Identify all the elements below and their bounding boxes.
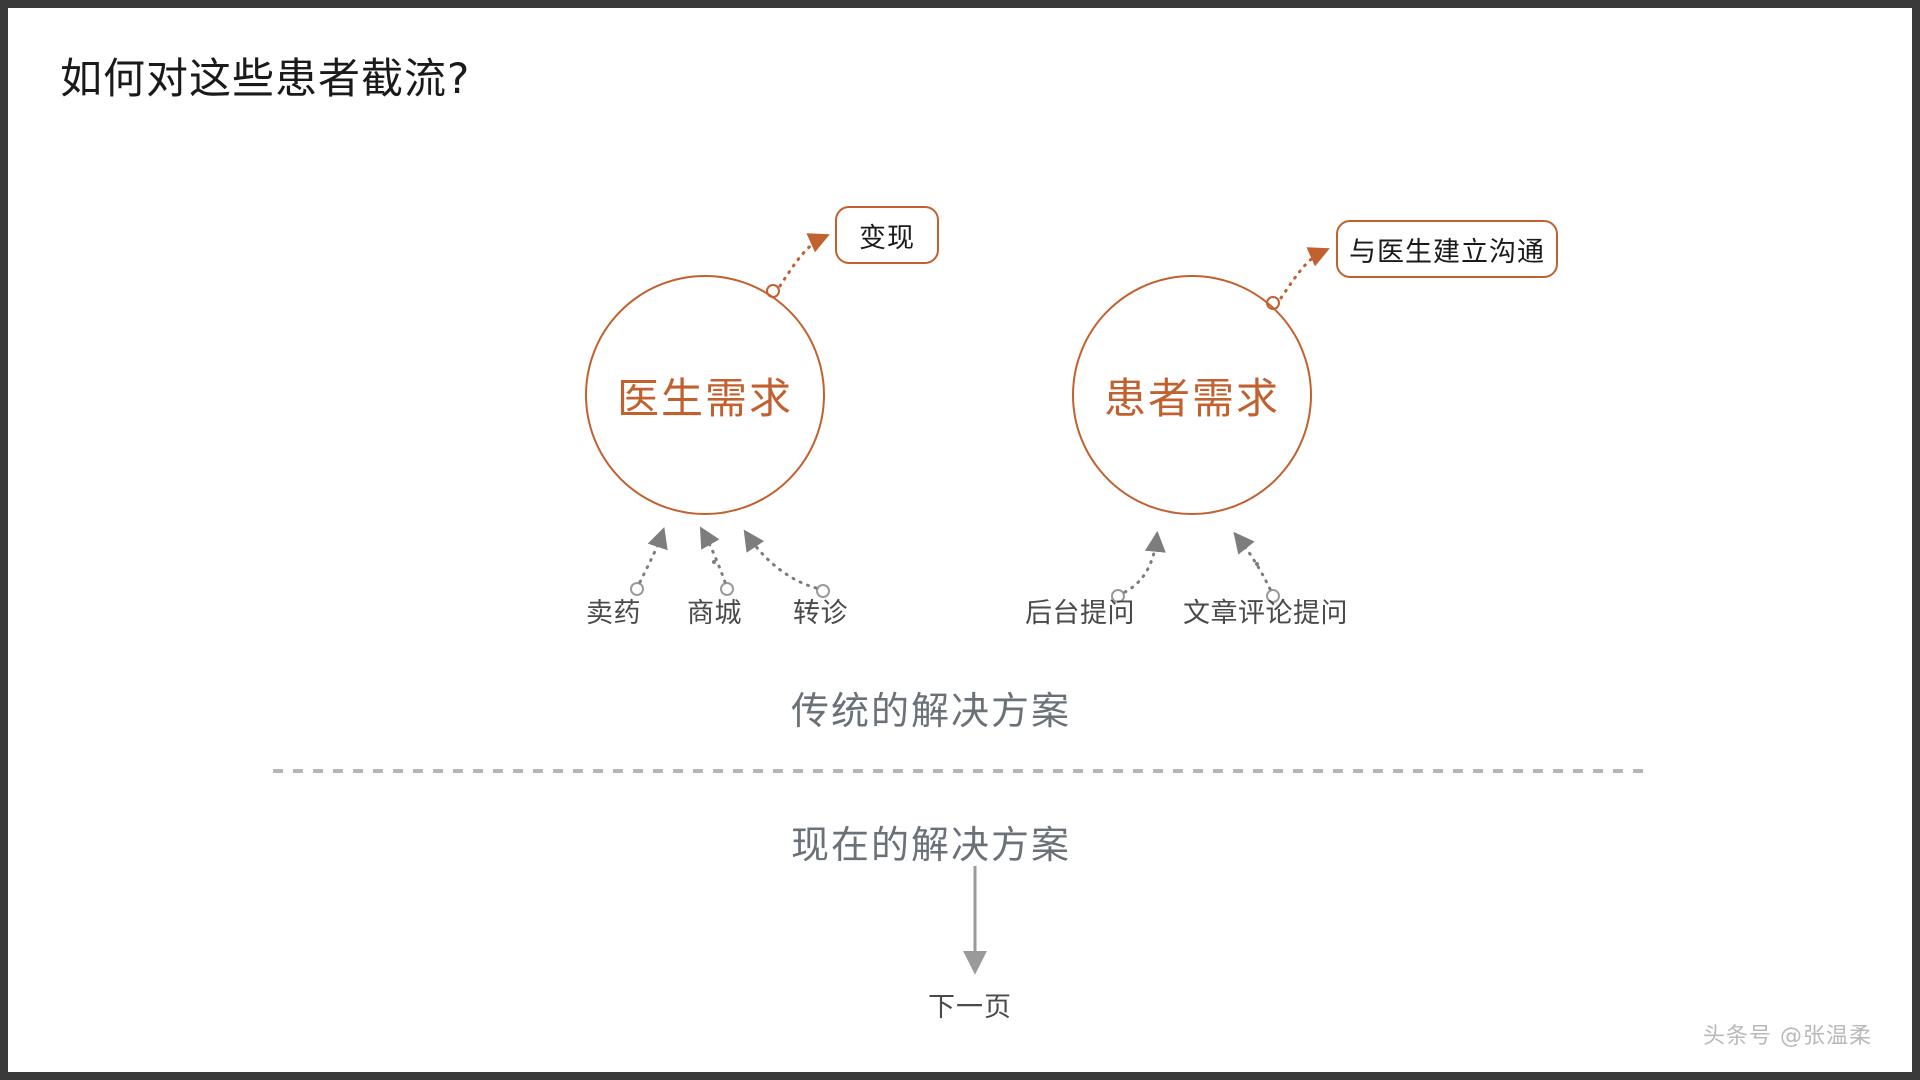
box-communicate[interactable]: 与医生建立沟通 — [1336, 220, 1558, 278]
source-label-sell: 卖药 — [586, 591, 641, 630]
connector-mall-to-doctor — [702, 530, 733, 595]
connector-sell-to-doctor — [631, 531, 663, 595]
circle-doctor-label: 医生需求 — [617, 365, 793, 426]
slide-canvas: 如何对这些患者截流? — [8, 8, 1912, 1072]
next-page-label[interactable]: 下一页 — [928, 985, 1012, 1024]
watermark: 头条号 @张温柔 — [1703, 1018, 1872, 1050]
source-label-mall: 商城 — [687, 591, 742, 630]
source-label-backend: 后台提问 — [1025, 591, 1135, 630]
connector-patient-to-communicate — [1267, 250, 1326, 309]
caption-traditional-solution: 传统的解决方案 — [791, 680, 1071, 735]
box-monetize[interactable]: 变现 — [835, 206, 939, 264]
caption-current-solution: 现在的解决方案 — [791, 814, 1071, 869]
circle-patient-needs[interactable]: 患者需求 — [1072, 275, 1312, 515]
page-title: 如何对这些患者截流? — [60, 52, 470, 106]
connector-referral-to-doctor — [746, 533, 829, 597]
box-monetize-label: 变现 — [859, 216, 915, 255]
circle-patient-label: 患者需求 — [1104, 365, 1280, 426]
source-label-referral: 转诊 — [793, 591, 848, 630]
source-label-comment: 文章评论提问 — [1183, 591, 1348, 630]
connector-doctor-to-monetize — [767, 236, 826, 297]
diagram-vector-layer — [8, 8, 1912, 1072]
box-communicate-label: 与医生建立沟通 — [1349, 230, 1545, 269]
circle-doctor-needs[interactable]: 医生需求 — [585, 275, 825, 515]
